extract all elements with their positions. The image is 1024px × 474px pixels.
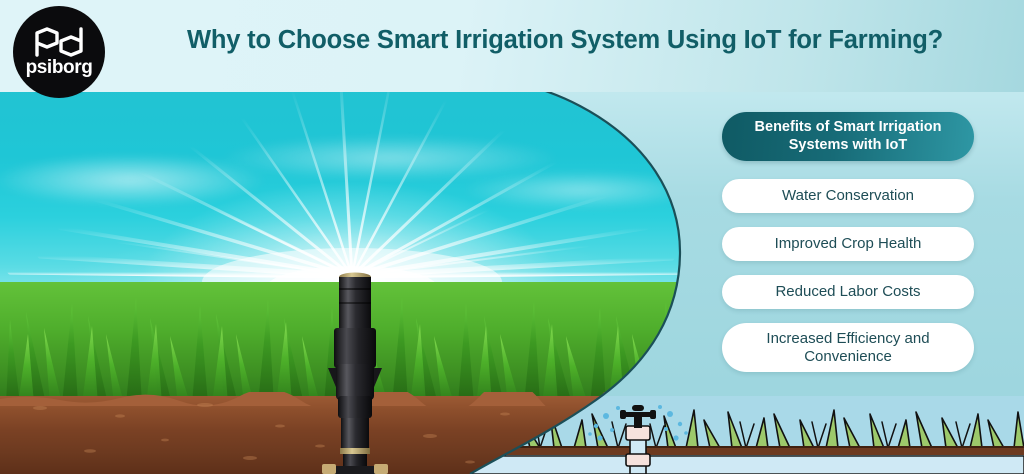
psiborg-logo[interactable]: psiborg — [13, 6, 105, 98]
benefit-item-increased-efficiency[interactable]: Increased Efficiency and Convenience — [722, 323, 974, 372]
logo-wordmark: psiborg — [26, 58, 93, 77]
benefit-item-water-conservation[interactable]: Water Conservation — [722, 179, 974, 213]
infographic-banner: Why to Choose Smart Irrigation System Us… — [0, 0, 1024, 474]
page-title: Why to Choose Smart Irrigation System Us… — [120, 26, 1010, 55]
pb-monogram-icon — [31, 27, 87, 57]
benefit-item-reduced-labor-costs[interactable]: Reduced Labor Costs — [722, 275, 974, 309]
benefits-heading: Benefits of Smart Irrigation Systems wit… — [722, 112, 974, 161]
benefit-item-improved-crop-health[interactable]: Improved Crop Health — [722, 227, 974, 261]
benefits-list: Benefits of Smart Irrigation Systems wit… — [722, 112, 974, 386]
